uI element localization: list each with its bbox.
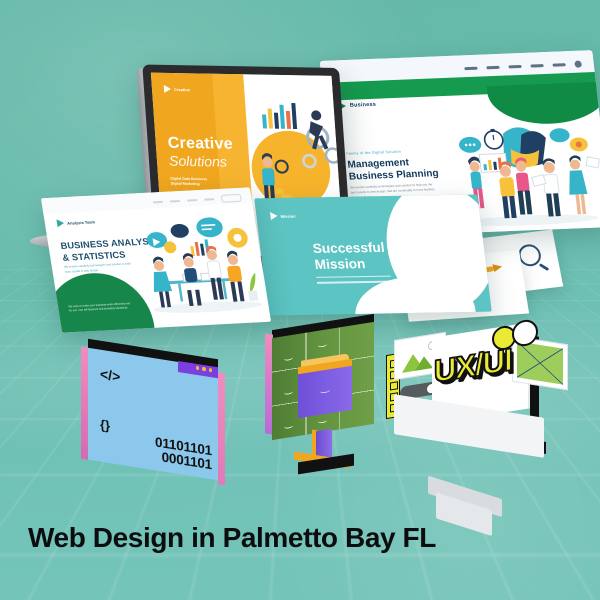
screen-title-line1: Creative <box>167 135 233 154</box>
drawer-handle[interactable] <box>284 355 293 361</box>
window-right-edge <box>218 372 225 485</box>
drawer-handle[interactable] <box>320 387 330 394</box>
arrow-icon <box>164 85 172 93</box>
screen-kicker: Digital Data Business Digital Marketing <box>170 177 208 188</box>
filing-cabinet-illustration <box>258 318 382 470</box>
drawer-handle[interactable] <box>284 389 293 395</box>
successful-mission-mockup: Mission Successful Mission <box>254 194 492 315</box>
window-left-edge <box>81 347 88 460</box>
mission-logo: Mission <box>270 212 296 220</box>
poster-canvas: Business Family of the Digital Solution … <box>0 0 600 600</box>
ba-nav-items <box>152 194 242 207</box>
logo-text: Mission <box>280 213 296 218</box>
ba-search-pill <box>221 194 242 203</box>
drawer-handle[interactable] <box>318 342 327 348</box>
ba-logo: Analysis Team <box>56 217 95 227</box>
drawer-front <box>298 366 352 419</box>
pen-tool-icon[interactable] <box>390 381 398 390</box>
uxui-laptop-illustration: UX/UI <box>386 322 576 472</box>
business-analysis-mockup: Analysis Team BUSINESS ANALYSIS & STATIS… <box>41 187 271 332</box>
binary-code-text: 01101101 0001101 <box>155 435 212 473</box>
kicker-text: Family of the Digital Solution <box>346 150 401 156</box>
logo-text: Creative <box>174 87 190 92</box>
drawer-handle[interactable] <box>318 417 327 423</box>
window-face: </> {} 01101101 0001101 <box>88 348 218 481</box>
code-tag-icon: </> <box>100 366 120 385</box>
wireframe-cross <box>517 341 563 384</box>
code-brace-icon: {} <box>100 417 110 434</box>
open-drawer[interactable] <box>298 366 352 419</box>
mountain-icon-small <box>415 355 433 371</box>
arrow-icon <box>56 219 64 227</box>
page-title: Web Design in Palmetto Bay FL <box>28 522 436 554</box>
window-control-dots[interactable] <box>196 366 213 372</box>
code-window-illustration: </> {} 01101101 0001101 <box>88 348 218 481</box>
browser-nav-items <box>464 61 582 73</box>
site-logo: Business <box>338 101 376 110</box>
ba-illustration <box>133 213 267 318</box>
logo-text: Business <box>350 102 377 109</box>
logo-text: Analysis Team <box>67 219 96 225</box>
screen-title-line2: Solutions <box>168 153 227 170</box>
screen-logo: Creative <box>164 85 190 93</box>
mission-title: Successful Mission <box>312 240 387 272</box>
drawer-handle[interactable] <box>284 422 293 428</box>
hero-title: Management Business Planning <box>347 156 439 184</box>
mission-text-lines <box>316 276 392 288</box>
arrow-icon <box>270 212 278 220</box>
